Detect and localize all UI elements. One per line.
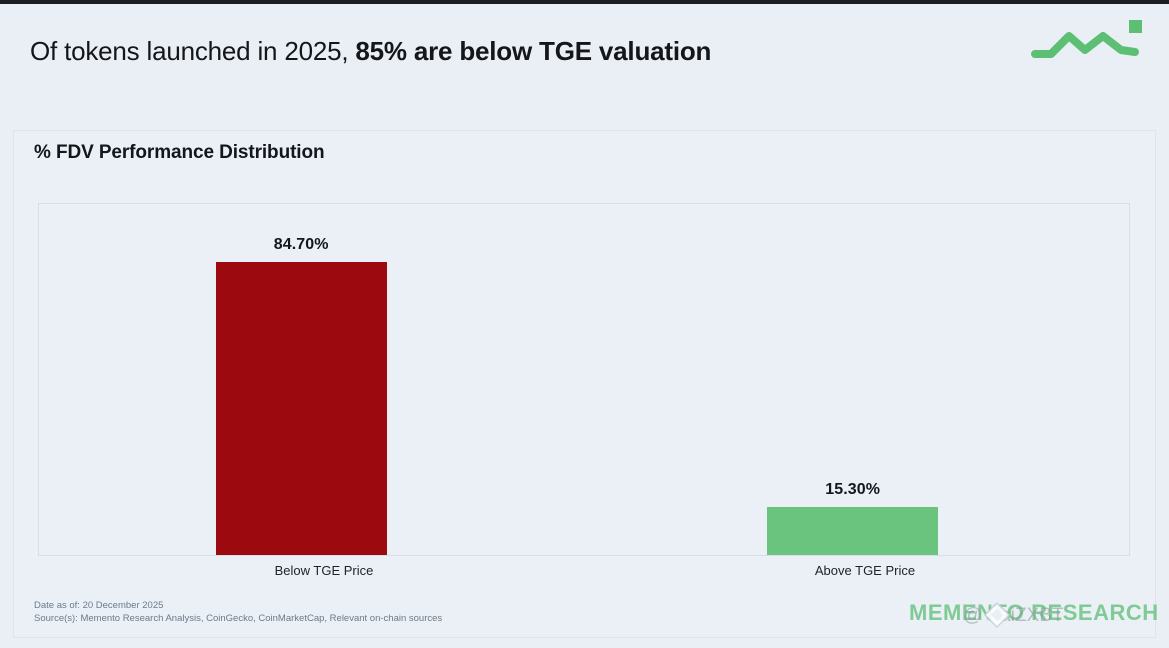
headline-regular-part: Of tokens launched in 2025, bbox=[30, 36, 355, 66]
chart-card: % FDV Performance Distribution 84.70% 15… bbox=[13, 130, 1156, 638]
page-header: Of tokens launched in 2025, 85% are belo… bbox=[0, 4, 1169, 116]
bar-above-tge[interactable] bbox=[767, 507, 938, 555]
bar-below-tge[interactable] bbox=[216, 262, 387, 555]
chart-footnote: Date as of: 20 December 2025 Source(s): … bbox=[34, 599, 442, 625]
chart-plot-area: 84.70% 15.30% bbox=[38, 203, 1130, 556]
handle-watermark: @ KaiZXBT bbox=[963, 605, 1064, 627]
memento-logo-icon bbox=[1025, 16, 1145, 68]
watermark-group: MEMENTO RESEARCH @ KaiZXBT bbox=[901, 591, 1151, 635]
page-title: Of tokens launched in 2025, 85% are belo… bbox=[30, 36, 711, 67]
axis-label-above-tge: Above TGE Price bbox=[755, 563, 975, 578]
footnote-source: Source(s): Memento Research Analysis, Co… bbox=[34, 612, 442, 625]
bar-group-below-tge[interactable]: 84.70% bbox=[216, 204, 387, 555]
bar-value-label: 84.70% bbox=[274, 236, 329, 254]
bar-value-label: 15.30% bbox=[825, 481, 880, 499]
footnote-date: Date as of: 20 December 2025 bbox=[34, 599, 442, 612]
axis-label-below-tge: Below TGE Price bbox=[214, 563, 434, 578]
headline-bold-part: 85% are below TGE valuation bbox=[355, 36, 711, 66]
bar-group-above-tge[interactable]: 15.30% bbox=[767, 204, 938, 555]
diamond-icon bbox=[983, 601, 1011, 629]
chart-title: % FDV Performance Distribution bbox=[34, 142, 325, 164]
